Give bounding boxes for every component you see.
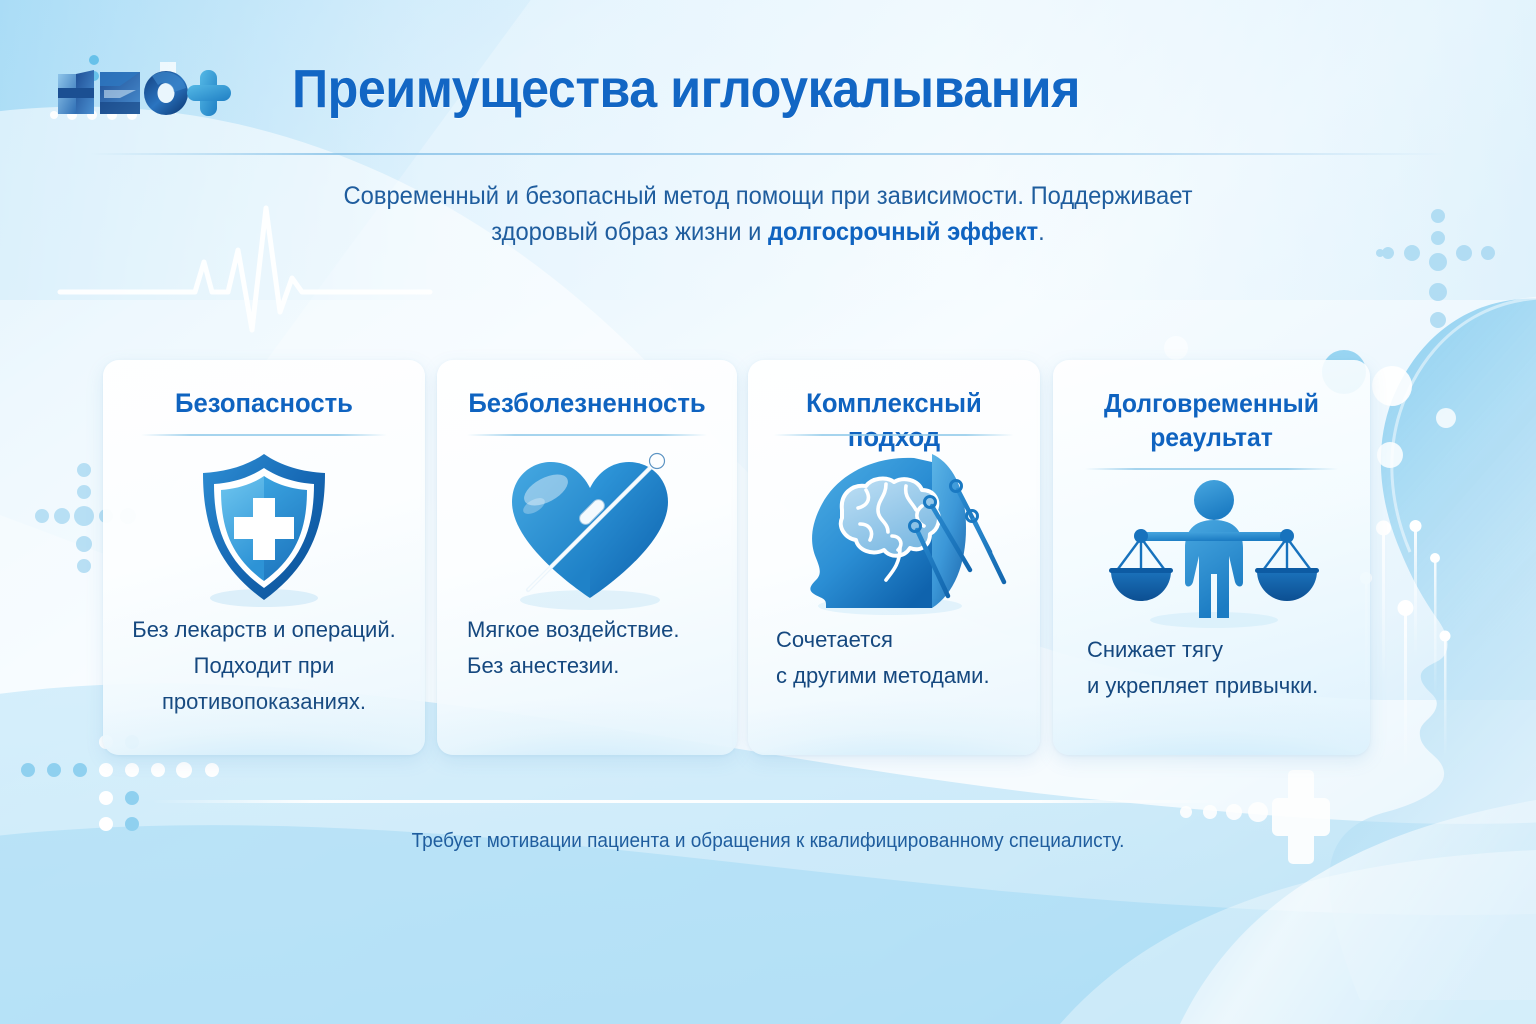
card-body-line-1: Сочетается: [776, 622, 1012, 658]
subtitle-line-2-suffix: .: [1038, 218, 1045, 246]
benefit-cards: Безопасность: [0, 360, 1536, 760]
heart-needle-icon: [494, 448, 684, 613]
neo-plus-logo[interactable]: [48, 52, 248, 124]
subtitle-line-2: здоровый образ жизни и долгосрочный эффе…: [293, 214, 1243, 250]
card-body-line-2: Подходит при: [117, 648, 411, 684]
benefit-card-long-term-result[interactable]: Долговременный реаультат: [1053, 360, 1370, 755]
card-title-divider: [774, 434, 1014, 436]
card-title-divider: [141, 434, 387, 436]
infographic-stage: Преимущества иглоукалывания Современный …: [0, 0, 1536, 1024]
benefit-card-painlessness[interactable]: Безболезненность: [437, 360, 737, 755]
card-body-line-1: Снижает тягу: [1087, 632, 1336, 668]
page-title: Преимущества иглоукалывания: [292, 58, 1080, 120]
card-title: Безопасность: [111, 386, 417, 420]
card-title: Долговременный реаультат: [1061, 386, 1362, 454]
benefit-card-safety[interactable]: Безопасность: [103, 360, 425, 755]
card-body-line-3: противопоказаниях.: [117, 684, 411, 720]
card-body-line-2: Без анестезии.: [467, 648, 707, 684]
card-body-line-1: Мягкое воздействие.: [467, 612, 707, 648]
subtitle-line-2-prefix: здоровый образ жизни и: [491, 218, 768, 246]
subtitle-highlight: долгосрочный эффект: [768, 218, 1038, 246]
card-body-line-2: с другими методами.: [776, 658, 1012, 694]
header: Преимущества иглоукалывания: [0, 0, 1536, 160]
footer-divider: [152, 800, 1232, 803]
subtitle: Современный и безопасный метод помощи пр…: [293, 178, 1243, 250]
card-body: Мягкое воздействие. Без анестезии.: [437, 612, 737, 684]
card-title: Безболезненность: [445, 386, 730, 420]
footer-note: Требует мотивации пациента и обращения к…: [293, 826, 1243, 856]
card-body-line-2: и укрепляет привычки.: [1087, 668, 1336, 704]
card-title: Комплексный подход: [755, 386, 1032, 454]
header-divider: [90, 153, 1450, 155]
subtitle-line-1: Современный и безопасный метод помощи пр…: [293, 178, 1243, 214]
head-brain-needles-icon: [782, 448, 1017, 618]
balance-person-icon: [1107, 478, 1322, 628]
card-body: Сочетается с другими методами.: [748, 622, 1040, 694]
card-body: Снижает тягу и укрепляет привычки.: [1053, 632, 1370, 704]
card-title-divider: [467, 434, 707, 436]
card-title-divider: [1085, 468, 1338, 470]
card-body: Без лекарств и операций. Подходит при пр…: [103, 612, 425, 720]
shield-cross-icon: [189, 448, 339, 608]
card-body-line-1: Без лекарств и операций.: [117, 612, 411, 648]
benefit-card-complex-approach[interactable]: Комплексный подход: [748, 360, 1040, 755]
